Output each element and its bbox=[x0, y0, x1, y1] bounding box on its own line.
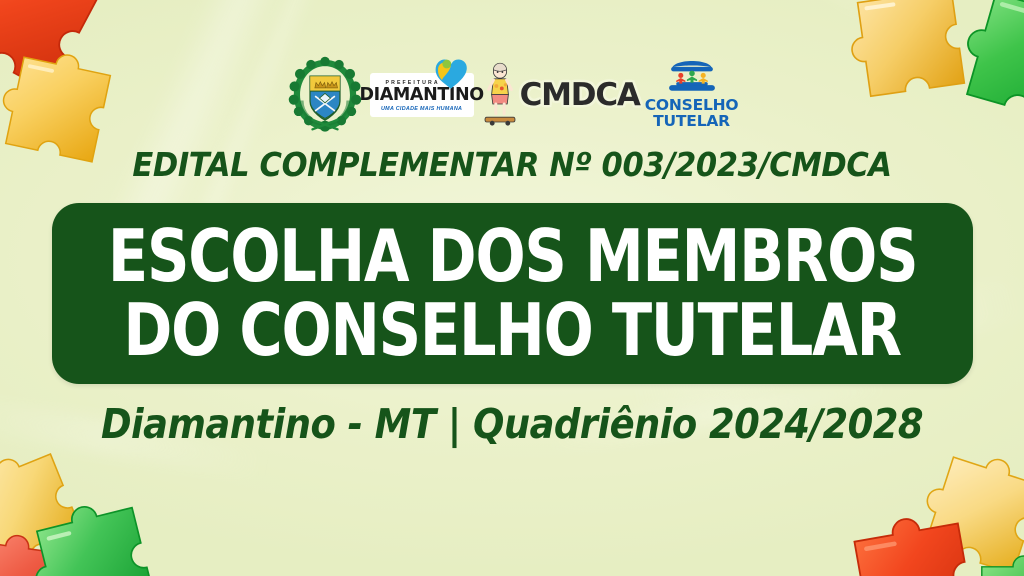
edital-headline: EDITAL COMPLEMENTAR Nº 003/2023/CMDCA bbox=[31, 146, 994, 184]
conselho-tutelar-mark-icon bbox=[664, 56, 720, 98]
puzzle-piece-bottom-left-green bbox=[28, 495, 168, 576]
main-title-line-2: DO CONSELHO TUTELAR bbox=[124, 296, 902, 366]
cmdca-label: CMDCA bbox=[520, 77, 640, 113]
cmdca-child-icon bbox=[482, 62, 518, 128]
conselho-tutelar-logo: CONSELHO TUTELAR bbox=[645, 56, 739, 130]
background-streak bbox=[714, 0, 885, 29]
puzzle-piece-bottom-left-yellow bbox=[0, 446, 92, 576]
puzzle-piece-bottom-right-yellow bbox=[918, 448, 1024, 576]
prefeitura-tagline: UMA CIDADE MAIS HUMANA bbox=[381, 107, 462, 112]
prefeitura-logo: PREFEITURA DIAMANTINO UMA CIDADE MAIS HU… bbox=[364, 73, 474, 117]
prefeitura-small-label: PREFEITURA bbox=[386, 81, 440, 86]
puzzle-piece-bottom-right-green bbox=[965, 548, 1024, 576]
subtitle-location-term: Diamantino - MT | Quadriênio 2024/2028 bbox=[51, 400, 973, 448]
poster-canvas: PREFEITURA DIAMANTINO UMA CIDADE MAIS HU… bbox=[0, 0, 1024, 576]
puzzle-piece-bottom-right-orange bbox=[842, 508, 992, 576]
conselho-tutelar-label-line-2: TUTELAR bbox=[653, 114, 730, 130]
prefeitura-logo-card: PREFEITURA DIAMANTINO UMA CIDADE MAIS HU… bbox=[370, 73, 474, 117]
logo-row: PREFEITURA DIAMANTINO UMA CIDADE MAIS HU… bbox=[0, 54, 1024, 136]
brasao-diamantino-icon bbox=[286, 56, 364, 134]
cmdca-logo: CMDCA bbox=[482, 62, 640, 128]
coat-of-arms-logo bbox=[286, 56, 364, 134]
puzzle-piece-bottom-left-red bbox=[0, 528, 76, 576]
main-title-box: ESCOLHA DOS MEMBROS DO CONSELHO TUTELAR bbox=[52, 203, 973, 384]
main-title-line-1: ESCOLHA DOS MEMBROS bbox=[108, 222, 918, 292]
